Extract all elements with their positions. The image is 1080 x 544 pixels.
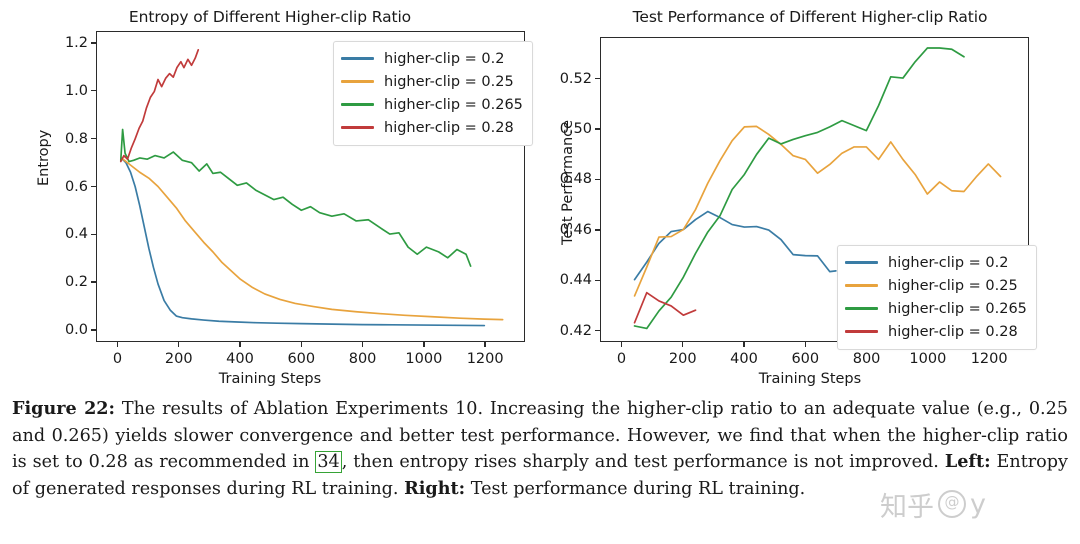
y-axis-label-entropy: Entropy: [36, 130, 52, 186]
legend-color-swatch: [341, 126, 374, 129]
legend-item[interactable]: higher-clip = 0.25: [845, 274, 1027, 297]
y-tick-mark: [91, 281, 96, 282]
chart-title-test-performance: Test Performance of Different Higher-cli…: [540, 8, 1080, 26]
y-tick-label: 0.0: [44, 322, 88, 338]
legend-entropy[interactable]: higher-clip = 0.2higher-clip = 0.25highe…: [333, 41, 533, 146]
x-tick-mark: [178, 342, 179, 347]
x-tick-mark: [484, 342, 485, 347]
x-tick-label: 800: [853, 351, 881, 367]
x-tick-label: 600: [287, 351, 315, 367]
x-tick-label: 1200: [467, 351, 504, 367]
x-tick-label: 200: [669, 351, 697, 367]
legend-item[interactable]: higher-clip = 0.2: [341, 47, 523, 70]
series-line: [121, 129, 471, 266]
y-tick-mark: [595, 128, 600, 129]
legend-label: higher-clip = 0.28: [888, 324, 1018, 340]
x-axis-label-test-performance: Training Steps: [540, 371, 1080, 387]
x-tick-label: 1000: [909, 351, 946, 367]
y-tick-mark: [595, 280, 600, 281]
legend-item[interactable]: higher-clip = 0.265: [341, 93, 523, 116]
caption-text-2: , then entropy rises sharply and test pe…: [342, 452, 945, 472]
legend-label: higher-clip = 0.25: [384, 74, 514, 90]
legend-color-swatch: [341, 103, 374, 106]
x-tick-label: 0: [113, 351, 122, 367]
y-tick-mark: [91, 234, 96, 235]
legend-color-swatch: [845, 330, 878, 333]
y-tick-label: 0.52: [548, 71, 592, 87]
y-tick-mark: [595, 330, 600, 331]
x-axis-label-entropy: Training Steps: [0, 371, 540, 387]
x-tick-mark: [682, 342, 683, 347]
y-tick-mark: [595, 229, 600, 230]
legend-label: higher-clip = 0.25: [888, 278, 1018, 294]
y-tick-label: 0.42: [548, 323, 592, 339]
x-tick-mark: [621, 342, 622, 347]
legend-label: higher-clip = 0.2: [384, 51, 504, 67]
y-tick-mark: [91, 90, 96, 91]
y-tick-label: 1.2: [44, 35, 88, 51]
series-line: [121, 50, 198, 162]
x-tick-label: 800: [349, 351, 377, 367]
x-tick-mark: [362, 342, 363, 347]
x-tick-label: 400: [730, 351, 758, 367]
legend-color-swatch: [341, 80, 374, 83]
x-tick-label: 600: [791, 351, 819, 367]
y-tick-label: 0.2: [44, 274, 88, 290]
legend-color-swatch: [845, 261, 878, 264]
legend-label: higher-clip = 0.265: [384, 97, 523, 113]
x-tick-mark: [239, 342, 240, 347]
x-tick-label: 200: [165, 351, 193, 367]
x-tick-label: 1000: [405, 351, 442, 367]
legend-item[interactable]: higher-clip = 0.25: [341, 70, 523, 93]
y-tick-mark: [91, 42, 96, 43]
y-tick-mark: [595, 179, 600, 180]
figure-caption: Figure 22: The results of Ablation Exper…: [12, 396, 1068, 502]
series-line: [635, 293, 696, 323]
x-tick-label: 0: [617, 351, 626, 367]
y-tick-mark: [91, 329, 96, 330]
legend-item[interactable]: higher-clip = 0.2: [845, 251, 1027, 274]
chart-panel-entropy: Entropy of Different Higher-clip Ratio 0…: [0, 0, 540, 392]
series-line: [635, 212, 836, 280]
x-tick-mark: [805, 342, 806, 347]
caption-text-4: Test performance during RL training.: [465, 479, 805, 499]
x-tick-mark: [743, 342, 744, 347]
y-tick-mark: [595, 78, 600, 79]
chart-title-entropy: Entropy of Different Higher-clip Ratio: [0, 8, 540, 26]
x-tick-mark: [423, 342, 424, 347]
legend-item[interactable]: higher-clip = 0.265: [845, 297, 1027, 320]
chart-panel-test-performance: Test Performance of Different Higher-cli…: [540, 0, 1080, 392]
y-axis-label-test-performance: Test Performance: [560, 120, 576, 245]
legend-item[interactable]: higher-clip = 0.28: [341, 116, 523, 139]
caption-bold-right: Right:: [404, 478, 465, 499]
series-line: [121, 158, 502, 320]
y-tick-label: 0.4: [44, 226, 88, 242]
legend-color-swatch: [341, 57, 374, 60]
y-tick-label: 0.44: [548, 272, 592, 288]
y-tick-label: 1.0: [44, 83, 88, 99]
legend-label: higher-clip = 0.28: [384, 120, 514, 136]
x-tick-mark: [301, 342, 302, 347]
legend-test-performance[interactable]: higher-clip = 0.2higher-clip = 0.25highe…: [837, 245, 1037, 350]
caption-citation-link[interactable]: 34: [315, 451, 341, 473]
caption-figure-number: Figure 22:: [12, 398, 115, 419]
x-tick-mark: [117, 342, 118, 347]
x-tick-label: 400: [226, 351, 254, 367]
y-tick-mark: [91, 186, 96, 187]
figure-panel-group: Entropy of Different Higher-clip Ratio 0…: [0, 0, 1080, 392]
legend-color-swatch: [845, 284, 878, 287]
x-tick-label: 1200: [971, 351, 1008, 367]
series-line: [121, 158, 484, 326]
legend-label: higher-clip = 0.265: [888, 301, 1027, 317]
legend-color-swatch: [845, 307, 878, 310]
legend-item[interactable]: higher-clip = 0.28: [845, 320, 1027, 343]
legend-label: higher-clip = 0.2: [888, 255, 1008, 271]
y-tick-mark: [91, 138, 96, 139]
caption-bold-left: Left:: [945, 451, 991, 472]
